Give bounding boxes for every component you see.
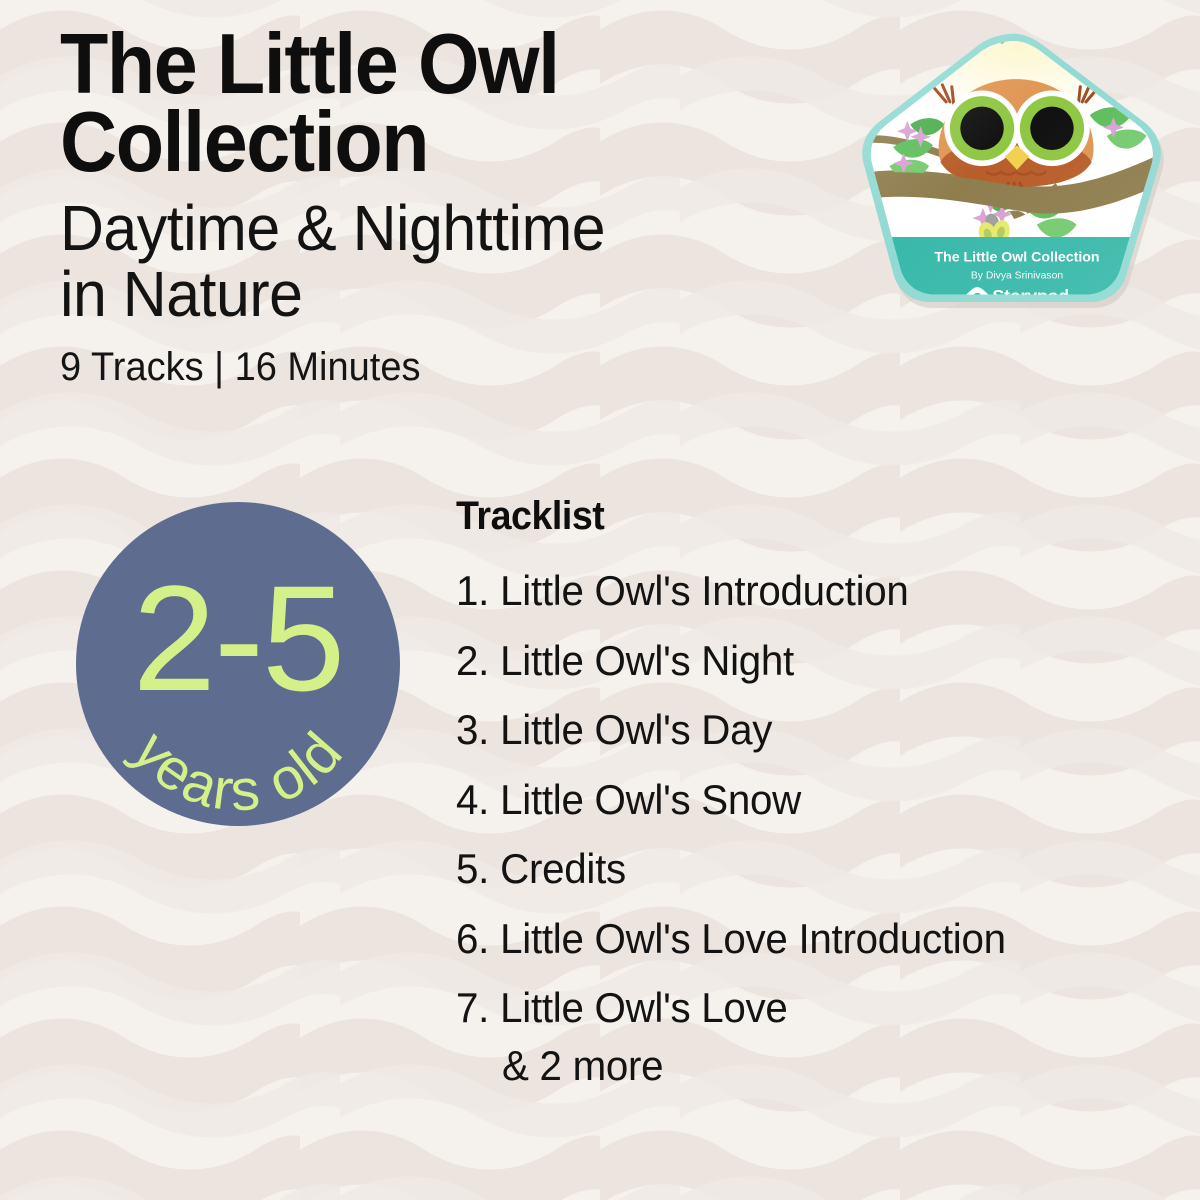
page-subtitle-line1: Daytime & Nighttime (60, 192, 605, 264)
track-title: Little Owl's Snow (500, 778, 1157, 823)
track-row: 6. Little Owl's Love Introduction (456, 917, 1157, 962)
track-count-duration: 9 Tracks | 16 Minutes (60, 347, 811, 387)
track-row: 7. Little Owl's Love (456, 986, 1157, 1031)
page-title-line2: Collection (60, 95, 428, 190)
track-number: 2. (456, 639, 500, 684)
track-title: Little Owl's Love Introduction (500, 917, 1157, 962)
track-number: 6. (456, 917, 500, 962)
card-gloss (862, 34, 1160, 302)
product-info-graphic: The Little Owl Collection Daytime & Nigh… (0, 0, 1200, 1200)
page-subtitle: Daytime & Nighttime in Nature (60, 196, 811, 327)
track-number: 7. (456, 986, 500, 1031)
track-row: 4. Little Owl's Snow (456, 778, 1157, 823)
headline-block: The Little Owl Collection Daytime & Nigh… (60, 26, 850, 387)
page-title: The Little Owl Collection (60, 26, 795, 182)
track-row: 2. Little Owl's Night (456, 639, 1157, 684)
page-subtitle-line2: in Nature (60, 258, 302, 330)
tracklist-heading: Tracklist (456, 494, 1142, 539)
track-row: 5. Credits (456, 847, 1157, 892)
age-range-badge: 2-5 years old (68, 494, 408, 834)
craftie-card-image: ® 2018-2022 Penguin Random House LLC The… (858, 26, 1176, 322)
track-number: 5. (456, 847, 500, 892)
track-title: Little Owl's Introduction (500, 569, 1157, 614)
age-badge-range: 2-5 (133, 554, 344, 722)
track-number: 1. (456, 569, 500, 614)
tracklist-more-label: & 2 more (502, 1042, 1159, 1090)
track-title: Credits (500, 847, 1157, 892)
track-title: Little Owl's Day (500, 708, 1157, 753)
track-number: 4. (456, 778, 500, 823)
track-row: 1. Little Owl's Introduction (456, 569, 1157, 614)
track-title: Little Owl's Love (500, 986, 1157, 1031)
tracklist: Tracklist 1. Little Owl's Introduction 2… (456, 494, 1186, 1090)
track-title: Little Owl's Night (500, 639, 1157, 684)
track-number: 3. (456, 708, 500, 753)
track-row: 3. Little Owl's Day (456, 708, 1157, 753)
